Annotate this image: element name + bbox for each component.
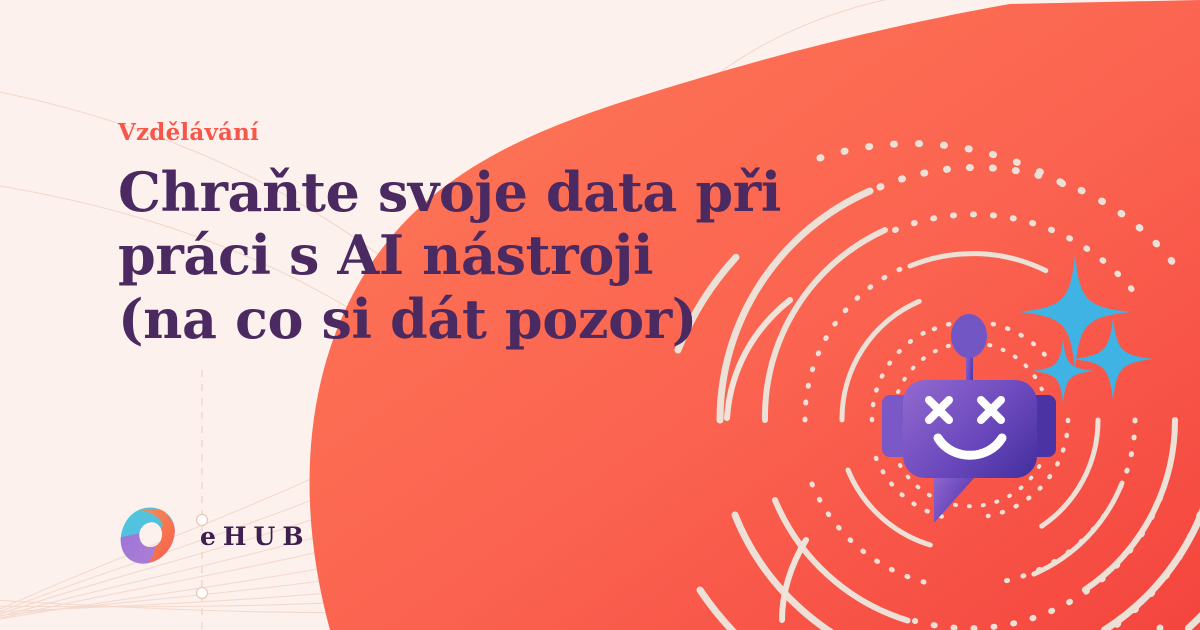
text-content-block: Vzdělávání Chraňte svoje data při práci … (118, 120, 798, 351)
page-title: Chraňte svoje data při práci s AI nástro… (118, 161, 798, 351)
robot-head (903, 380, 1037, 478)
brand-lockup[interactable]: eHUB (118, 505, 310, 567)
category-eyebrow: Vzdělávání (118, 120, 798, 145)
robot-antenna-ball (951, 314, 987, 358)
ehub-logo-icon (118, 505, 180, 567)
social-card: Vzdělávání Chraňte svoje data při práci … (0, 0, 1200, 630)
brand-name: eHUB (200, 524, 310, 549)
